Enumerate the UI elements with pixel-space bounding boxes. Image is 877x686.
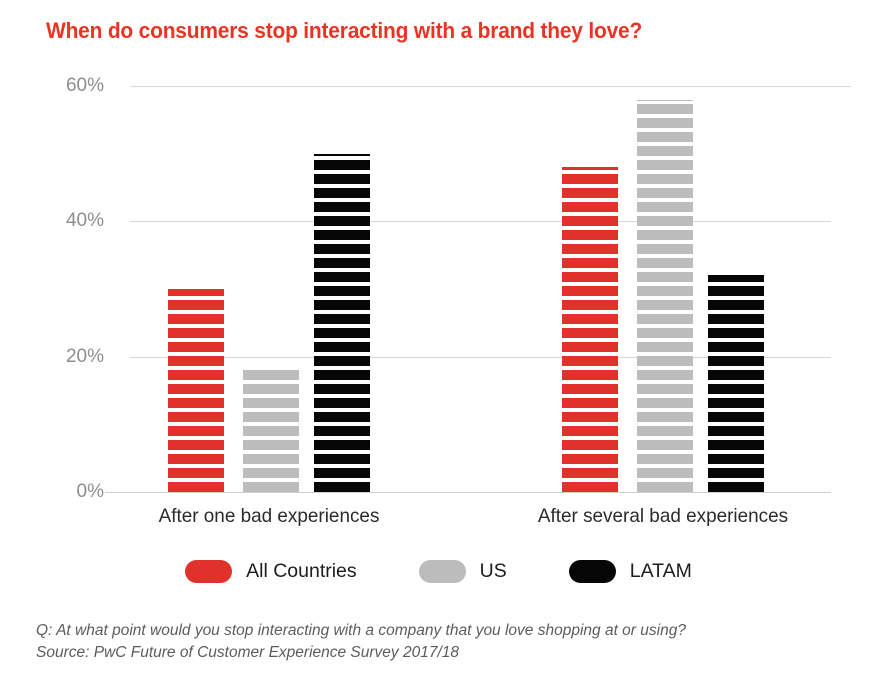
bar-stripe bbox=[637, 398, 693, 408]
bar-stripe bbox=[562, 286, 618, 296]
bar-stripe bbox=[637, 342, 693, 352]
chart-legend: All CountriesUSLATAM bbox=[0, 560, 877, 583]
bar-stripe bbox=[314, 482, 370, 492]
bar-stripe bbox=[562, 314, 618, 324]
category-label: After several bad experiences bbox=[469, 505, 857, 528]
bar-stripe bbox=[168, 412, 224, 422]
bar-stripe bbox=[637, 356, 693, 366]
bar-stripe bbox=[637, 216, 693, 226]
footnote-question: Q: At what point would you stop interact… bbox=[36, 620, 686, 642]
bar-stripe bbox=[168, 328, 224, 338]
bar-stripe bbox=[314, 244, 370, 254]
bar-stripe bbox=[637, 454, 693, 464]
bar-stripe bbox=[637, 426, 693, 436]
bar-stripe bbox=[562, 440, 618, 450]
legend-swatch-icon bbox=[569, 560, 616, 583]
bar-stripe bbox=[637, 104, 693, 114]
bar-stripe bbox=[314, 286, 370, 296]
chart-page: When do consumers stop interacting with … bbox=[0, 0, 877, 686]
bar-stripe bbox=[562, 258, 618, 268]
bar-stripe bbox=[314, 384, 370, 394]
bar-stripe bbox=[314, 230, 370, 240]
bar-stripe bbox=[562, 216, 618, 226]
bar-stripe bbox=[562, 454, 618, 464]
bar-stripe bbox=[708, 468, 764, 478]
plot-area: 0%20%40%60% After one bad experiencesAft… bbox=[0, 0, 877, 686]
bar-stripe bbox=[637, 440, 693, 450]
bar-latam bbox=[708, 275, 764, 492]
bar-stripe bbox=[708, 440, 764, 450]
footnote: Q: At what point would you stop interact… bbox=[36, 620, 686, 664]
bar-stripe bbox=[637, 482, 693, 492]
legend-label: LATAM bbox=[630, 560, 692, 583]
bar-stripe bbox=[243, 454, 299, 464]
bar-us bbox=[637, 100, 693, 492]
bar-latam bbox=[314, 154, 370, 492]
bar-stripe bbox=[637, 300, 693, 310]
bar-stripe bbox=[637, 314, 693, 324]
bar-stripe bbox=[314, 202, 370, 212]
bar-stripe bbox=[708, 314, 764, 324]
bar-stripe bbox=[637, 146, 693, 156]
bar-stripe bbox=[637, 188, 693, 198]
bar-stripe bbox=[243, 426, 299, 436]
bar-stripe bbox=[168, 356, 224, 366]
bar-stripe bbox=[168, 370, 224, 380]
bar-all-countries bbox=[168, 289, 224, 492]
bar-stripe bbox=[168, 440, 224, 450]
bar-stripe bbox=[168, 468, 224, 478]
bar-stripe bbox=[314, 426, 370, 436]
y-tick-label: 60% bbox=[26, 75, 104, 97]
bar-stripe bbox=[243, 468, 299, 478]
bar-stripe bbox=[243, 398, 299, 408]
bar-stripe bbox=[562, 300, 618, 310]
bar-stripe bbox=[637, 160, 693, 170]
bar-stripe bbox=[314, 398, 370, 408]
footnote-source: Source: PwC Future of Customer Experienc… bbox=[36, 642, 686, 664]
bar-stripe bbox=[314, 160, 370, 170]
bar-stripe bbox=[314, 216, 370, 226]
bar-stripe bbox=[637, 230, 693, 240]
bar-stripe bbox=[637, 328, 693, 338]
bar-stripe bbox=[637, 174, 693, 184]
bar-stripe bbox=[562, 244, 618, 254]
bar-stripe bbox=[314, 468, 370, 478]
legend-item-latam[interactable]: LATAM bbox=[569, 560, 692, 583]
bar-stripe bbox=[708, 328, 764, 338]
bar-stripe bbox=[562, 482, 618, 492]
bar-stripe bbox=[314, 154, 370, 156]
bar-stripe bbox=[708, 426, 764, 436]
axis-baseline bbox=[105, 492, 831, 493]
bar-stripe bbox=[168, 454, 224, 464]
bar-stripe bbox=[168, 300, 224, 310]
bar-stripe bbox=[168, 342, 224, 352]
bar-stripe bbox=[562, 342, 618, 352]
bar-stripe bbox=[314, 272, 370, 282]
bar-stripe bbox=[637, 468, 693, 478]
bar-stripe bbox=[562, 468, 618, 478]
bar-stripe bbox=[314, 440, 370, 450]
bar-stripe bbox=[708, 286, 764, 296]
bar-stripe bbox=[168, 384, 224, 394]
bar-stripe bbox=[314, 356, 370, 366]
bar-stripe bbox=[708, 412, 764, 422]
bar-stripe bbox=[314, 342, 370, 352]
bar-stripe bbox=[562, 412, 618, 422]
bar-stripe bbox=[637, 132, 693, 142]
y-tick-label: 20% bbox=[26, 346, 104, 368]
bar-stripe bbox=[562, 167, 618, 170]
legend-swatch-icon bbox=[419, 560, 466, 583]
y-tick-label: 40% bbox=[26, 210, 104, 232]
bar-stripe bbox=[562, 230, 618, 240]
legend-swatch-icon bbox=[185, 560, 232, 583]
bar-stripe bbox=[562, 188, 618, 198]
bar-stripe bbox=[708, 356, 764, 366]
bar-stripe bbox=[314, 412, 370, 422]
legend-item-all-countries[interactable]: All Countries bbox=[185, 560, 357, 583]
gridline-60 bbox=[130, 86, 851, 87]
bar-stripe bbox=[168, 398, 224, 408]
bar-stripe bbox=[637, 412, 693, 422]
bar-stripe bbox=[168, 426, 224, 436]
bar-stripe bbox=[637, 384, 693, 394]
bar-stripe bbox=[562, 202, 618, 212]
bar-stripe bbox=[708, 384, 764, 394]
bar-stripe bbox=[243, 482, 299, 492]
bar-stripe bbox=[708, 482, 764, 492]
bar-stripe bbox=[562, 398, 618, 408]
bar-stripe bbox=[708, 398, 764, 408]
bar-us bbox=[243, 370, 299, 492]
bar-stripe bbox=[637, 286, 693, 296]
bar-stripe bbox=[708, 342, 764, 352]
bar-stripe bbox=[168, 314, 224, 324]
bar-stripe bbox=[708, 275, 764, 282]
bar-stripe bbox=[314, 258, 370, 268]
y-tick-label: 0% bbox=[26, 481, 104, 503]
bar-stripe bbox=[314, 188, 370, 198]
bar-stripe bbox=[637, 118, 693, 128]
gridline-40 bbox=[130, 221, 831, 222]
bar-stripe bbox=[562, 272, 618, 282]
bar-stripe bbox=[243, 440, 299, 450]
bar-stripe bbox=[562, 426, 618, 436]
bar-stripe bbox=[562, 384, 618, 394]
legend-item-us[interactable]: US bbox=[419, 560, 507, 583]
bar-stripe bbox=[314, 174, 370, 184]
bar-stripe bbox=[314, 370, 370, 380]
bar-stripe bbox=[168, 482, 224, 492]
legend-label: All Countries bbox=[246, 560, 357, 583]
bar-stripe bbox=[562, 328, 618, 338]
bar-stripe bbox=[314, 314, 370, 324]
bar-stripe bbox=[562, 174, 618, 184]
bar-stripe bbox=[637, 202, 693, 212]
bar-all-countries bbox=[562, 167, 618, 492]
bar-stripe bbox=[637, 258, 693, 268]
bar-stripe bbox=[562, 356, 618, 366]
bar-stripe bbox=[637, 244, 693, 254]
bar-stripe bbox=[243, 384, 299, 394]
bar-stripe bbox=[314, 328, 370, 338]
bar-stripe bbox=[243, 370, 299, 380]
category-label: After one bad experiences bbox=[75, 505, 463, 528]
bar-stripe bbox=[562, 370, 618, 380]
bar-stripe bbox=[637, 370, 693, 380]
bar-stripe bbox=[708, 454, 764, 464]
bar-stripe bbox=[168, 289, 224, 296]
bar-stripe bbox=[314, 454, 370, 464]
bar-stripe bbox=[637, 272, 693, 282]
bar-stripe bbox=[708, 300, 764, 310]
legend-label: US bbox=[480, 560, 507, 583]
bar-stripe bbox=[314, 300, 370, 310]
bar-stripe bbox=[243, 412, 299, 422]
bar-stripe bbox=[708, 370, 764, 380]
